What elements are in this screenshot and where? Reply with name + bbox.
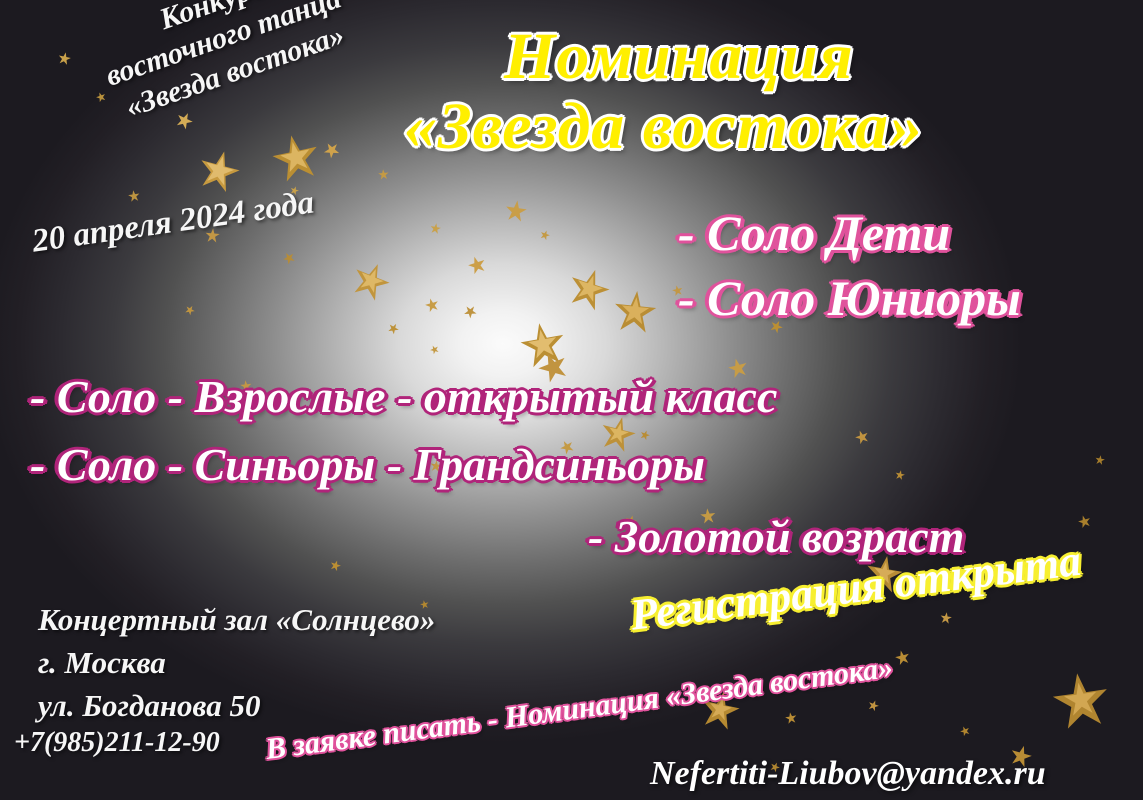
gold-glitter-star-icon [378, 169, 390, 181]
gold-glitter-star-icon [281, 250, 297, 266]
gold-glitter-star-icon [386, 321, 401, 336]
gold-glitter-star-icon [853, 428, 871, 446]
gold-glitter-star-icon [429, 222, 442, 235]
category-label: Соло - Взрослые - открытый класс [57, 371, 778, 422]
gold-glitter-star-icon [329, 559, 343, 573]
gold-glitter-star-icon [939, 611, 953, 625]
venue-phone[interactable]: +7(985)211-12-90 [14, 727, 220, 759]
gold-glitter-star-icon [958, 724, 971, 737]
gold-glitter-star-icon [183, 303, 197, 317]
category-bullet: - [30, 439, 45, 490]
gold-glitter-star-icon [321, 139, 344, 162]
venue-city: г. Москва [38, 645, 166, 681]
poster-title-line-2: «Звезда востока» [404, 92, 923, 161]
gold-glitter-star-icon [268, 130, 325, 187]
gold-glitter-star-icon [611, 288, 659, 336]
gold-glitter-star-icon [784, 711, 798, 725]
category-bullet: - [30, 371, 45, 422]
gold-glitter-star-icon [423, 296, 440, 313]
category-item-solo-juniory: - Соло Юниоры [678, 272, 1021, 325]
poster-title-line-1: Номинация [504, 22, 854, 91]
contest-branding: Конкурс восточного танца «Звезда востока… [36, 0, 411, 146]
gold-glitter-star-icon [346, 256, 395, 305]
gold-glitter-star-icon [866, 698, 880, 712]
application-note: В заявке писать - Номинация «Звезда вост… [264, 652, 895, 766]
gold-glitter-star-icon [1094, 454, 1106, 466]
gold-glitter-star-icon [466, 254, 489, 277]
category-bullet: - [678, 205, 695, 261]
gold-glitter-star-icon [539, 229, 552, 242]
poster-canvas: Конкурс восточного танца «Звезда востока… [0, 0, 1143, 800]
gold-glitter-star-icon [173, 109, 196, 132]
category-label: Соло Дети [707, 205, 950, 261]
category-bullet: - [588, 511, 603, 562]
gold-glitter-star-icon [894, 469, 906, 481]
gold-glitter-star-icon [893, 648, 911, 666]
venue-hall: Концертный зал «Солнцево» [38, 602, 435, 638]
gold-glitter-star-icon [516, 318, 569, 371]
category-label: Золотой возраст [615, 511, 965, 562]
gold-glitter-star-icon [563, 263, 616, 316]
category-item-zolotoy-vozrast: - Золотой возраст [588, 513, 964, 561]
gold-glitter-star-icon [127, 189, 141, 203]
gold-glitter-star-icon [1048, 668, 1114, 734]
category-item-solo-deti: - Соло Дети [678, 207, 950, 260]
gold-glitter-star-icon [1076, 513, 1092, 529]
venue-street: ул. Богданова 50 [38, 688, 260, 724]
category-label: Соло Юниоры [707, 270, 1021, 326]
category-item-solo-sinory: - Соло - Синьоры - Грандсиньоры [30, 441, 705, 489]
gold-glitter-star-icon [504, 199, 529, 224]
gold-glitter-star-icon [429, 344, 441, 356]
event-date: 20 апреля 2024 года [30, 184, 316, 260]
category-item-solo-vzroslye: - Соло - Взрослые - открытый класс [30, 373, 777, 421]
category-label: Соло - Синьоры - Грандсиньоры [57, 439, 705, 490]
gold-glitter-star-icon [193, 145, 244, 196]
gold-glitter-star-icon [461, 302, 479, 320]
contact-email[interactable]: Nefertiti-Liubov@yandex.ru [650, 755, 1046, 793]
category-bullet: - [678, 270, 695, 326]
